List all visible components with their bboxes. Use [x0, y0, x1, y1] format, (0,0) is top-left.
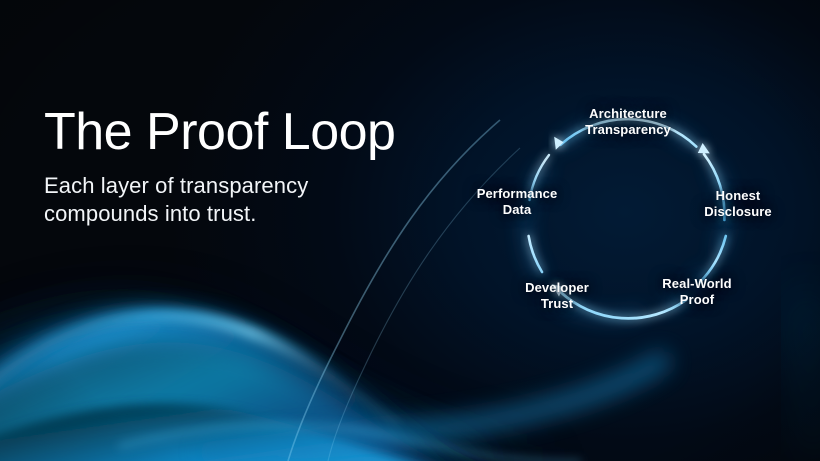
node-line-2: Disclosure [704, 204, 771, 220]
node-label-performance-data[interactable]: Performance Data [477, 186, 558, 218]
page-subtitle: Each layer of transparency compounds int… [44, 172, 374, 227]
node-line-1: Performance [477, 186, 558, 202]
node-line-2: Trust [525, 296, 589, 312]
arrowhead-to-honest-disclosure [698, 143, 710, 153]
node-line-2: Proof [662, 292, 731, 308]
node-line-2: Transparency [585, 122, 671, 138]
node-line-1: Developer [525, 280, 589, 296]
node-label-developer-trust[interactable]: Developer Trust [525, 280, 589, 312]
node-line-1: Honest [704, 188, 771, 204]
slide-canvas: The Proof Loop Each layer of transparenc… [0, 0, 820, 461]
node-line-1: Architecture [585, 106, 671, 122]
headline-block: The Proof Loop Each layer of transparenc… [44, 104, 444, 228]
page-title: The Proof Loop [44, 104, 444, 160]
node-line-1: Real-World [662, 276, 731, 292]
node-label-architecture-transparency[interactable]: Architecture Transparency [585, 106, 671, 138]
node-label-real-world-proof[interactable]: Real-World Proof [662, 276, 731, 308]
arrowhead-to-architecture-transparency [554, 137, 563, 150]
proof-loop-diagram: Architecture Transparency Honest Disclos… [450, 60, 820, 400]
node-line-2: Data [477, 202, 558, 218]
node-label-honest-disclosure[interactable]: Honest Disclosure [704, 188, 771, 220]
